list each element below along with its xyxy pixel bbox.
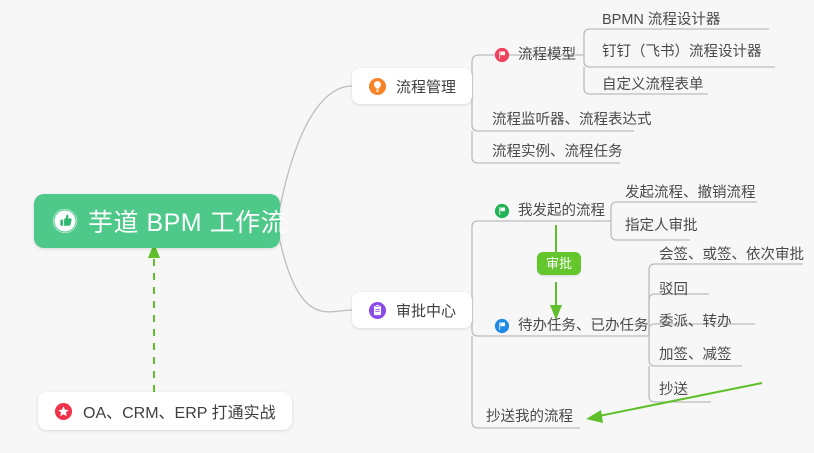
clipboard-icon bbox=[368, 301, 387, 320]
flag-icon bbox=[494, 203, 510, 219]
approve-tag: 审批 bbox=[537, 252, 581, 275]
node-add-remove-sign-label: 加签、减签 bbox=[659, 347, 732, 363]
node-assignee-approval-label: 指定人审批 bbox=[625, 218, 698, 234]
node-start-cancel-process-label: 发起流程、撤销流程 bbox=[625, 185, 756, 201]
bottom-integration-label: OA、CRM、ERP 打通实战 bbox=[83, 399, 276, 423]
node-delegate-transfer-label: 委派、转办 bbox=[659, 314, 732, 330]
node-bpmn-designer-label: BPMN 流程设计器 bbox=[602, 12, 720, 28]
branch-approval-center-label: 审批中心 bbox=[396, 300, 456, 321]
node-my-started-process-label: 我发起的流程 bbox=[518, 204, 605, 219]
node-start-cancel-process[interactable]: 发起流程、撤销流程 bbox=[625, 186, 756, 201]
node-cc-label: 抄送 bbox=[659, 382, 688, 398]
mindmap-canvas: 芋道 BPM 工作流 流程管理 流程模型 流程监听器、流程表达式 流程实例、流 bbox=[0, 0, 814, 453]
star-icon bbox=[54, 402, 73, 421]
node-sign-modes-label: 会签、或签、依次审批 bbox=[659, 247, 804, 263]
node-cc[interactable]: 抄送 bbox=[659, 383, 688, 398]
node-todo-done-tasks[interactable]: 待办任务、已办任务 bbox=[494, 318, 649, 334]
node-todo-done-tasks-label: 待办任务、已办任务 bbox=[518, 319, 649, 334]
root-node[interactable]: 芋道 BPM 工作流 bbox=[34, 194, 280, 248]
node-cc-my-process[interactable]: 抄送我的流程 bbox=[486, 410, 573, 425]
flag-icon bbox=[494, 318, 510, 334]
node-reject-label: 驳回 bbox=[659, 282, 688, 298]
lightbulb-icon bbox=[368, 77, 387, 96]
branch-approval-center[interactable]: 审批中心 bbox=[352, 292, 472, 328]
node-bpmn-designer[interactable]: BPMN 流程设计器 bbox=[602, 13, 720, 28]
node-dingtalk-designer[interactable]: 钉钉（飞书）流程设计器 bbox=[602, 45, 762, 60]
branch-process-management[interactable]: 流程管理 bbox=[352, 68, 472, 104]
node-custom-form[interactable]: 自定义流程表单 bbox=[602, 78, 704, 93]
flag-icon bbox=[494, 47, 510, 63]
node-assignee-approval[interactable]: 指定人审批 bbox=[625, 219, 698, 234]
node-process-model[interactable]: 流程模型 bbox=[494, 47, 576, 63]
thumbs-up-icon bbox=[52, 208, 78, 234]
node-process-model-label: 流程模型 bbox=[518, 48, 576, 63]
node-my-started-process[interactable]: 我发起的流程 bbox=[494, 203, 605, 219]
node-sign-modes[interactable]: 会签、或签、依次审批 bbox=[659, 248, 804, 263]
node-delegate-transfer[interactable]: 委派、转办 bbox=[659, 315, 732, 330]
node-custom-form-label: 自定义流程表单 bbox=[602, 77, 704, 93]
node-process-instance-label: 流程实例、流程任务 bbox=[492, 144, 623, 160]
edge-root-to-approval-center bbox=[280, 241, 352, 312]
approve-tag-label: 审批 bbox=[546, 256, 572, 271]
node-process-listener[interactable]: 流程监听器、流程表达式 bbox=[492, 113, 652, 128]
root-label: 芋道 BPM 工作流 bbox=[88, 203, 286, 239]
node-add-remove-sign[interactable]: 加签、减签 bbox=[659, 348, 732, 363]
node-process-listener-label: 流程监听器、流程表达式 bbox=[492, 112, 652, 128]
node-reject[interactable]: 驳回 bbox=[659, 283, 688, 298]
node-cc-my-process-label: 抄送我的流程 bbox=[486, 409, 573, 425]
edge-root-to-process-management bbox=[280, 86, 352, 207]
branch-process-management-label: 流程管理 bbox=[396, 76, 456, 97]
node-process-instance[interactable]: 流程实例、流程任务 bbox=[492, 145, 623, 160]
arrowhead-cc bbox=[586, 410, 603, 423]
node-dingtalk-designer-label: 钉钉（飞书）流程设计器 bbox=[602, 44, 762, 60]
bottom-integration-node[interactable]: OA、CRM、ERP 打通实战 bbox=[38, 392, 292, 430]
